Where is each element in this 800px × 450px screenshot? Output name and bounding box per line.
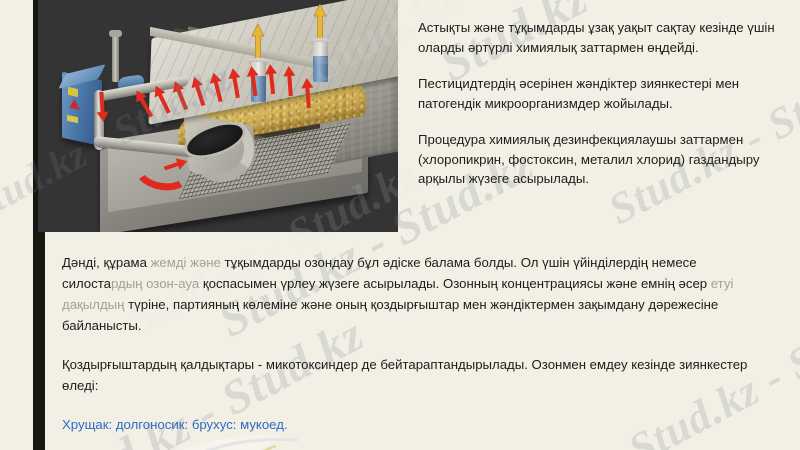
grain-store-ozonation-illustration [38,0,398,232]
right-paragraph-1: Астықты және тұқымдарды ұзақ уақыт сақта… [418,18,784,57]
bottom-pest-list: Хрущак: долгоносик: брухус: мукоед. [62,414,780,435]
exhaust-flue-cap [109,30,122,37]
text-run: Дәнді, құрама [62,255,151,270]
slide-canvas: Астықты және тұқымдарды ұзақ уақыт сақта… [0,0,800,450]
right-text-panel: Астықты және тұқымдарды ұзақ уақыт сақта… [418,18,784,206]
exhaust-arrow-icon [252,24,264,60]
text-run: қоспасымен үрлеу жүзеге асырылады. Озонн… [199,276,711,291]
exhaust-arrow-icon [314,4,326,40]
bottom-text-panel: Дәнді, құрама жемді және тұқымдарды озон… [62,252,780,435]
text-run: түріне, партияның көлеміне және оның қоз… [62,297,718,333]
right-paragraph-3: Процедура химиялық дезинфекциялаушы затт… [418,130,784,189]
bottom-paragraph-2: Қоздырғыштардың қалдықтары - микотоксинд… [62,354,780,396]
faded-text-run: рдың озон-ауа [111,276,199,291]
right-paragraph-2: Пестицидтердің әсерінен жәндіктер зиянке… [418,74,784,113]
bottom-paragraph-1: Дәнді, құрама жемді және тұқымдарды озон… [62,252,780,336]
exhaust-flue-pipe [112,34,119,82]
faded-text-run: жемді және [151,255,221,270]
